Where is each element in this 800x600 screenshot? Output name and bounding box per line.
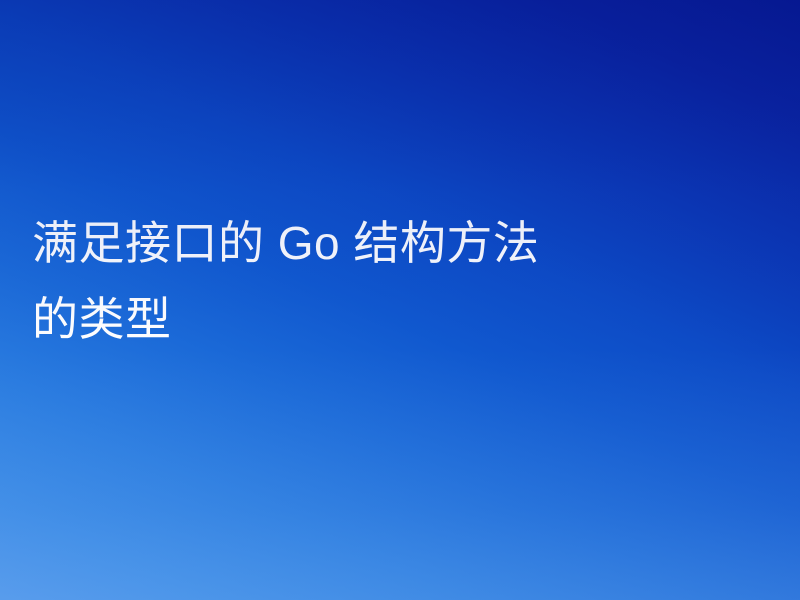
title-line-1: 满足接口的 Go 结构方法 xyxy=(32,205,752,281)
slide-canvas: 满足接口的 Go 结构方法 的类型 xyxy=(0,0,800,600)
page-title: 满足接口的 Go 结构方法 的类型 xyxy=(32,205,752,357)
title-line-2: 的类型 xyxy=(32,281,752,357)
